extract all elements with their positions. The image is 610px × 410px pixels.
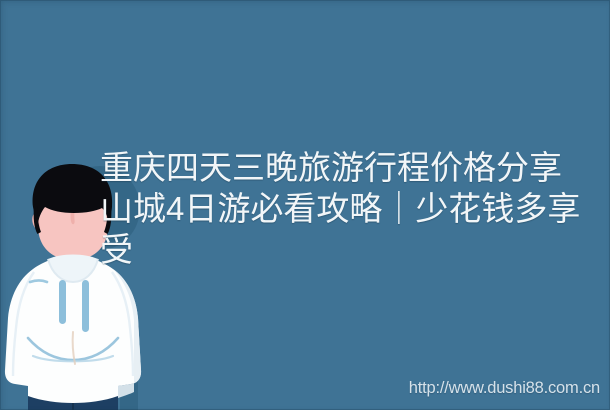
image-canvas: 重庆四天三晚旅游行程价格分享山城4日游必看攻略｜少花钱多享受 http://ww… bbox=[0, 0, 610, 410]
page-title: 重庆四天三晚旅游行程价格分享山城4日游必看攻略｜少花钱多享受 bbox=[100, 147, 592, 270]
drawstring-right bbox=[82, 280, 89, 332]
watermark-url: http://www.dushi88.com.cn bbox=[409, 379, 600, 398]
drawstring-left bbox=[59, 280, 66, 324]
